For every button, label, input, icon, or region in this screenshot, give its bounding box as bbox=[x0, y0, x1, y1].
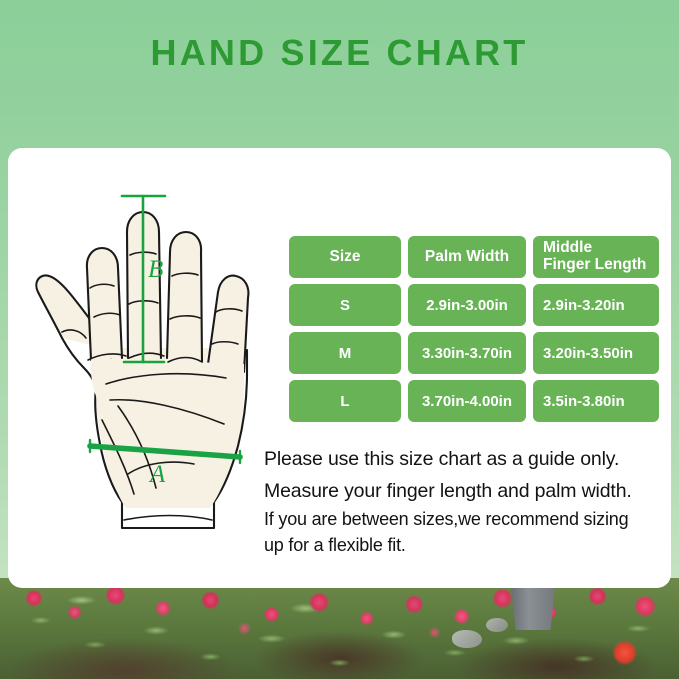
stone-icon bbox=[486, 618, 508, 632]
note-line-4: up for a flexible fit. bbox=[264, 533, 664, 559]
guidance-note: Please use this size chart as a guide on… bbox=[264, 444, 664, 558]
flower-garden-photo bbox=[0, 578, 679, 679]
header-line-2: Finger Length bbox=[543, 256, 646, 273]
palm-width-label: A bbox=[148, 461, 166, 488]
table-header-row: Size Palm Width Middle Finger Length bbox=[289, 236, 659, 278]
cell-palm-width-l: 3.70in-4.00in bbox=[408, 380, 526, 422]
note-line-2: Measure your finger length and palm widt… bbox=[264, 476, 664, 508]
header-line-1: Middle bbox=[543, 239, 592, 256]
cell-size-m: M bbox=[289, 332, 401, 374]
content-card: B A Size Palm Width Middle Finger Length bbox=[8, 148, 671, 588]
column-header-size: Size bbox=[289, 236, 401, 278]
cell-palm-width-s: 2.9in-3.00in bbox=[408, 284, 526, 326]
page-title: HAND SIZE CHART bbox=[0, 32, 679, 74]
cell-middle-finger-l: 3.5in-3.80in bbox=[533, 380, 659, 422]
column-header-middle-finger-length: Middle Finger Length bbox=[533, 236, 659, 278]
table-row: M 3.30in-3.70in 3.20in-3.50in bbox=[289, 332, 659, 374]
note-line-3: If you are between sizes,we recommend si… bbox=[264, 507, 664, 533]
size-chart-graphic: HAND SIZE CHART bbox=[0, 0, 679, 679]
table-row: S 2.9in-3.00in 2.9in-3.20in bbox=[289, 284, 659, 326]
cell-middle-finger-s: 2.9in-3.20in bbox=[533, 284, 659, 326]
flowers-layer bbox=[0, 578, 679, 679]
table-row: L 3.70in-4.00in 3.5in-3.80in bbox=[289, 380, 659, 422]
note-line-1: Please use this size chart as a guide on… bbox=[264, 444, 664, 476]
cell-middle-finger-m: 3.20in-3.50in bbox=[533, 332, 659, 374]
finger-length-label: B bbox=[148, 256, 163, 283]
cell-palm-width-m: 3.30in-3.70in bbox=[408, 332, 526, 374]
stone-icon bbox=[452, 630, 482, 648]
column-header-palm-width: Palm Width bbox=[408, 236, 526, 278]
open-palm-hand-icon: B A bbox=[18, 172, 280, 570]
cell-size-s: S bbox=[289, 284, 401, 326]
size-table: Size Palm Width Middle Finger Length S 2… bbox=[289, 236, 659, 428]
cell-size-l: L bbox=[289, 380, 401, 422]
